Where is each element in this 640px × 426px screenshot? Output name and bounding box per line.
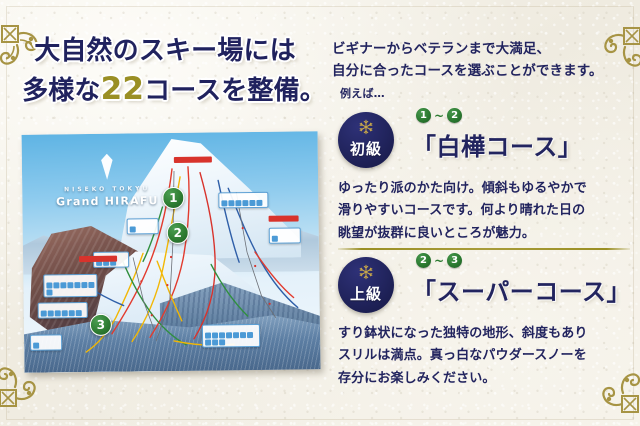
- right-column: ビギナーからベテランまで大満足、 自分に合ったコースを選ぶことができます。 例え…: [330, 0, 640, 426]
- facility-icon: [256, 200, 262, 206]
- headline: 大自然のスキー場には 多様な22コースを整備。: [0, 36, 330, 107]
- facility-icon: [81, 282, 87, 288]
- facility-icon: [60, 282, 66, 288]
- facility-icon: [46, 289, 52, 295]
- range-start-marker: 2: [416, 253, 431, 268]
- map-red-label-summit: [174, 156, 212, 163]
- map-info-text: [272, 230, 298, 234]
- level-badge-label: 上級: [338, 283, 394, 304]
- description-line: 存分にお楽しみください。: [338, 368, 634, 390]
- facility-icon: [62, 310, 68, 316]
- facility-icon: [33, 343, 39, 349]
- map-marker-3[interactable]: 3: [90, 314, 112, 336]
- course-range-beginner: 1 ~ 2: [416, 108, 462, 123]
- section-divider: [338, 248, 630, 250]
- map-info-box-village[interactable]: [202, 324, 260, 348]
- snowflake-icon: [358, 119, 374, 135]
- facility-icon: [205, 339, 211, 345]
- facility-icon: [48, 310, 54, 316]
- map-info-box-mid[interactable]: [127, 218, 159, 234]
- course-title-advanced: 「スーパーコース」: [412, 272, 631, 307]
- example-label: 例えば…: [340, 85, 385, 101]
- intro-line-2: 自分に合ったコースを選ぶことができます。: [332, 60, 624, 82]
- map-info-text: [33, 337, 59, 341]
- intro-text: ビギナーからベテランまで大満足、 自分に合ったコースを選ぶことができます。: [332, 38, 624, 83]
- description-line: スリルは満点。真っ白なパウダースノーを: [338, 345, 634, 367]
- facility-icon: [212, 332, 218, 338]
- facility-icon: [235, 200, 241, 206]
- map-red-label-west: [79, 256, 117, 263]
- intro-line-1: ビギナーからベテランまで大満足、: [332, 38, 624, 60]
- map-resort-logo: NISEKO TOKYU Grand HIRAFU: [52, 153, 163, 208]
- level-badge-advanced: 上級: [338, 257, 394, 313]
- facility-icon: [130, 226, 136, 232]
- range-dash: ~: [434, 254, 444, 268]
- facility-icon: [240, 332, 246, 338]
- description-line: ゆったり派のかた向け。傾斜もゆるやかで: [338, 178, 634, 200]
- map-facility-icons: [221, 200, 265, 207]
- course-range-advanced: 2 ~ 3: [416, 253, 462, 268]
- map-marker-1-label: 1: [169, 191, 178, 205]
- facility-icon: [88, 282, 94, 288]
- map-marker-2-label: 2: [173, 226, 182, 240]
- map-marker-3-label: 3: [97, 318, 106, 332]
- map-red-label-east: [269, 215, 299, 222]
- headline-line-2-prefix: 多様な: [22, 76, 100, 106]
- facility-icon: [219, 339, 225, 345]
- facility-icon: [233, 332, 239, 338]
- resort-logo-subtitle: NISEKO TOKYU: [52, 185, 162, 193]
- facility-icon: [247, 332, 253, 338]
- level-badge-label: 初級: [338, 138, 394, 159]
- facility-icon: [69, 310, 75, 316]
- range-dash: ~: [434, 109, 444, 123]
- description-line: すり鉢状になった独特の地形、斜度もあり: [338, 323, 634, 345]
- snowflake-icon: [358, 264, 374, 280]
- map-facility-icons: [41, 310, 85, 317]
- map-info-box-east[interactable]: [269, 227, 301, 243]
- course-title-beginner: 「白樺コース」: [412, 127, 582, 162]
- facility-icon: [53, 282, 59, 288]
- map-facility-icons: [272, 235, 298, 241]
- map-info-box-summit[interactable]: [218, 192, 268, 209]
- map-facility-icons: [33, 342, 59, 348]
- map-info-box-base[interactable]: [30, 334, 62, 350]
- range-start-marker: 1: [416, 108, 431, 123]
- ski-trail-map[interactable]: NISEKO TOKYU Grand HIRAFU 1 2 3: [22, 131, 321, 373]
- facility-icon: [242, 200, 248, 206]
- map-facility-icons: [130, 226, 156, 232]
- range-end-marker: 3: [447, 253, 462, 268]
- description-line: 滑りやすいコースです。何より晴れた日の: [338, 200, 634, 222]
- facility-icon: [226, 332, 232, 338]
- facility-icon: [41, 310, 47, 316]
- facility-icon: [55, 310, 61, 316]
- facility-icon: [249, 200, 255, 206]
- description-line: 眺望が抜群に良いところが魅力。: [338, 223, 634, 245]
- facility-icon: [219, 332, 225, 338]
- promo-banner: 大自然のスキー場には 多様な22コースを整備。: [0, 0, 640, 426]
- facility-icon: [74, 282, 80, 288]
- map-info-box-west-lower[interactable]: [38, 302, 88, 319]
- map-facility-icons: [46, 282, 94, 296]
- facility-icon: [272, 236, 278, 242]
- map-info-text: [41, 305, 85, 309]
- map-info-text: [221, 195, 265, 199]
- facility-icon: [212, 339, 218, 345]
- facility-icon: [228, 200, 234, 206]
- level-badge-beginner: 初級: [338, 112, 394, 168]
- facility-icon: [67, 282, 73, 288]
- headline-line-1: 大自然のスキー場には: [0, 36, 330, 67]
- map-marker-1[interactable]: 1: [162, 187, 184, 209]
- resort-logo-title: Grand HIRAFU: [52, 194, 162, 208]
- map-info-text: [46, 277, 94, 281]
- map-facility-icons: [205, 332, 257, 346]
- resort-logo-mark-icon: [94, 154, 120, 180]
- course-description-beginner: ゆったり派のかた向け。傾斜もゆるやかで 滑りやすいコースです。何より晴れた日の …: [338, 178, 634, 245]
- facility-icon: [205, 332, 211, 338]
- facility-icon: [46, 282, 52, 288]
- facility-icon: [76, 310, 82, 316]
- headline-course-count: 22: [101, 71, 144, 107]
- range-end-marker: 2: [447, 108, 462, 123]
- headline-line-2-suffix: コースを整備。: [144, 76, 326, 106]
- map-info-text: [130, 221, 156, 225]
- map-marker-2[interactable]: 2: [167, 222, 189, 244]
- course-description-advanced: すり鉢状になった独特の地形、斜度もあり スリルは満点。真っ白なパウダースノーを …: [338, 323, 634, 390]
- map-info-box-west-mid[interactable]: [43, 274, 97, 298]
- map-info-text: [205, 327, 257, 332]
- facility-icon: [221, 200, 227, 206]
- headline-line-2: 多様な22コースを整備。: [0, 71, 330, 108]
